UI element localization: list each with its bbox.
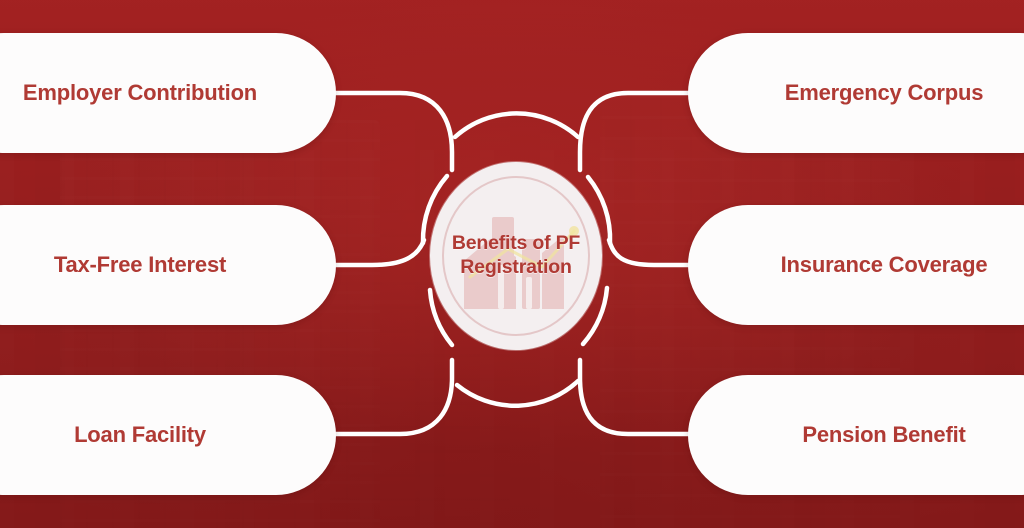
node-pension-benefit[interactable]: Pension Benefit bbox=[688, 375, 1024, 495]
center-hub: Benefits of PF Registration bbox=[430, 162, 602, 350]
node-label-employer-contribution: Employer Contribution bbox=[23, 80, 257, 106]
node-tax-free-interest[interactable]: Tax-Free Interest bbox=[0, 205, 336, 325]
node-label-loan-facility: Loan Facility bbox=[74, 422, 206, 448]
center-hub-title: Benefits of PF Registration bbox=[444, 232, 588, 280]
node-employer-contribution[interactable]: Employer Contribution bbox=[0, 33, 336, 153]
node-emergency-corpus[interactable]: Emergency Corpus bbox=[688, 33, 1024, 153]
infographic-canvas: Benefits of PF Registration Employer Con… bbox=[0, 0, 1024, 528]
node-loan-facility[interactable]: Loan Facility bbox=[0, 375, 336, 495]
center-title-line-2: Registration bbox=[460, 256, 571, 278]
node-label-emergency-corpus: Emergency Corpus bbox=[785, 80, 984, 106]
node-label-pension-benefit: Pension Benefit bbox=[802, 422, 965, 448]
center-title-line-1: Benefits of PF bbox=[452, 232, 580, 254]
node-label-tax-free-interest: Tax-Free Interest bbox=[54, 252, 226, 278]
node-label-insurance-coverage: Insurance Coverage bbox=[781, 252, 988, 278]
node-insurance-coverage[interactable]: Insurance Coverage bbox=[688, 205, 1024, 325]
